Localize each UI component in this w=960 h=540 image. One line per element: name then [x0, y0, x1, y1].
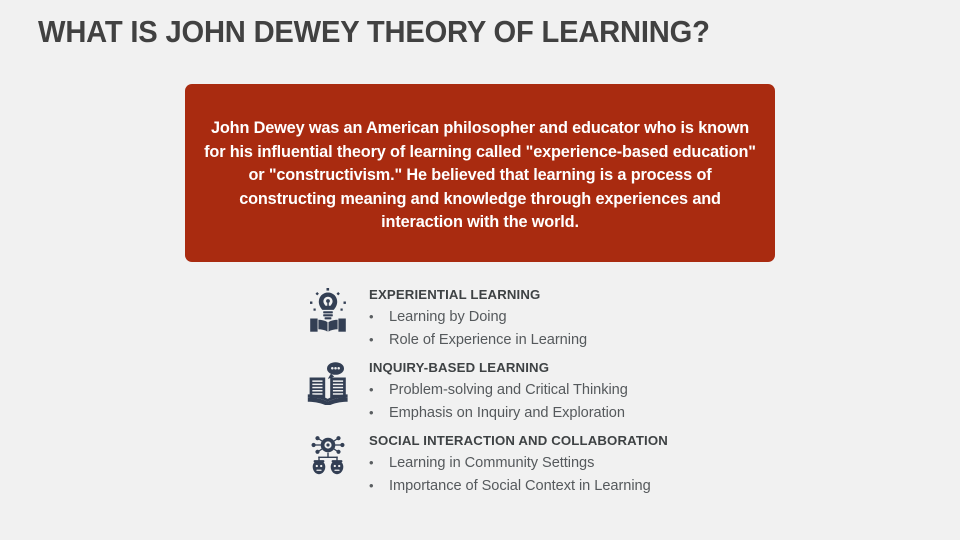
bullet-dot-icon: •: [369, 402, 389, 424]
sections-list: Experiential Learning • Learning by Doin…: [305, 286, 925, 505]
network-people-icon: [305, 432, 351, 480]
section-heading: Inquiry-Based Learning: [369, 360, 628, 376]
bullet-dot-icon: •: [369, 475, 389, 497]
bullet-item: • Learning in Community Settings: [369, 452, 668, 475]
bullet-text: Role of Experience in Learning: [389, 330, 587, 352]
callout-text: John Dewey was an American philosopher a…: [201, 117, 759, 234]
section-body: Social Interaction and Collaboration • L…: [351, 432, 668, 497]
section-heading: Experiential Learning: [369, 287, 587, 303]
callout-box: John Dewey was an American philosopher a…: [185, 84, 775, 262]
bullet-item: • Problem-solving and Critical Thinking: [369, 379, 628, 402]
list-item: Inquiry-Based Learning • Problem-solving…: [305, 359, 925, 424]
bullet-item: • Learning by Doing: [369, 306, 587, 329]
bullet-text: Learning in Community Settings: [389, 453, 594, 475]
list-item: Social Interaction and Collaboration • L…: [305, 432, 925, 497]
page-title: What is John Dewey Theory of Learning?: [38, 14, 710, 50]
section-heading: Social Interaction and Collaboration: [369, 433, 668, 449]
section-body: Experiential Learning • Learning by Doin…: [351, 286, 587, 351]
section-body: Inquiry-Based Learning • Problem-solving…: [351, 359, 628, 424]
bullet-item: • Role of Experience in Learning: [369, 329, 587, 352]
bullet-dot-icon: •: [369, 306, 389, 328]
bullet-dot-icon: •: [369, 379, 389, 401]
bullet-text: Learning by Doing: [389, 307, 507, 329]
bullet-dot-icon: •: [369, 329, 389, 351]
bullet-text: Problem-solving and Critical Thinking: [389, 380, 628, 402]
bullet-item: • Importance of Social Context in Learni…: [369, 475, 668, 498]
book-speech-bubble-icon: [305, 359, 351, 407]
lightbulb-book-icon: [305, 286, 351, 334]
bullet-text: Importance of Social Context in Learning: [389, 476, 651, 498]
bullet-dot-icon: •: [369, 452, 389, 474]
bullet-item: • Emphasis on Inquiry and Exploration: [369, 402, 628, 425]
list-item: Experiential Learning • Learning by Doin…: [305, 286, 925, 351]
bullet-text: Emphasis on Inquiry and Exploration: [389, 403, 625, 425]
